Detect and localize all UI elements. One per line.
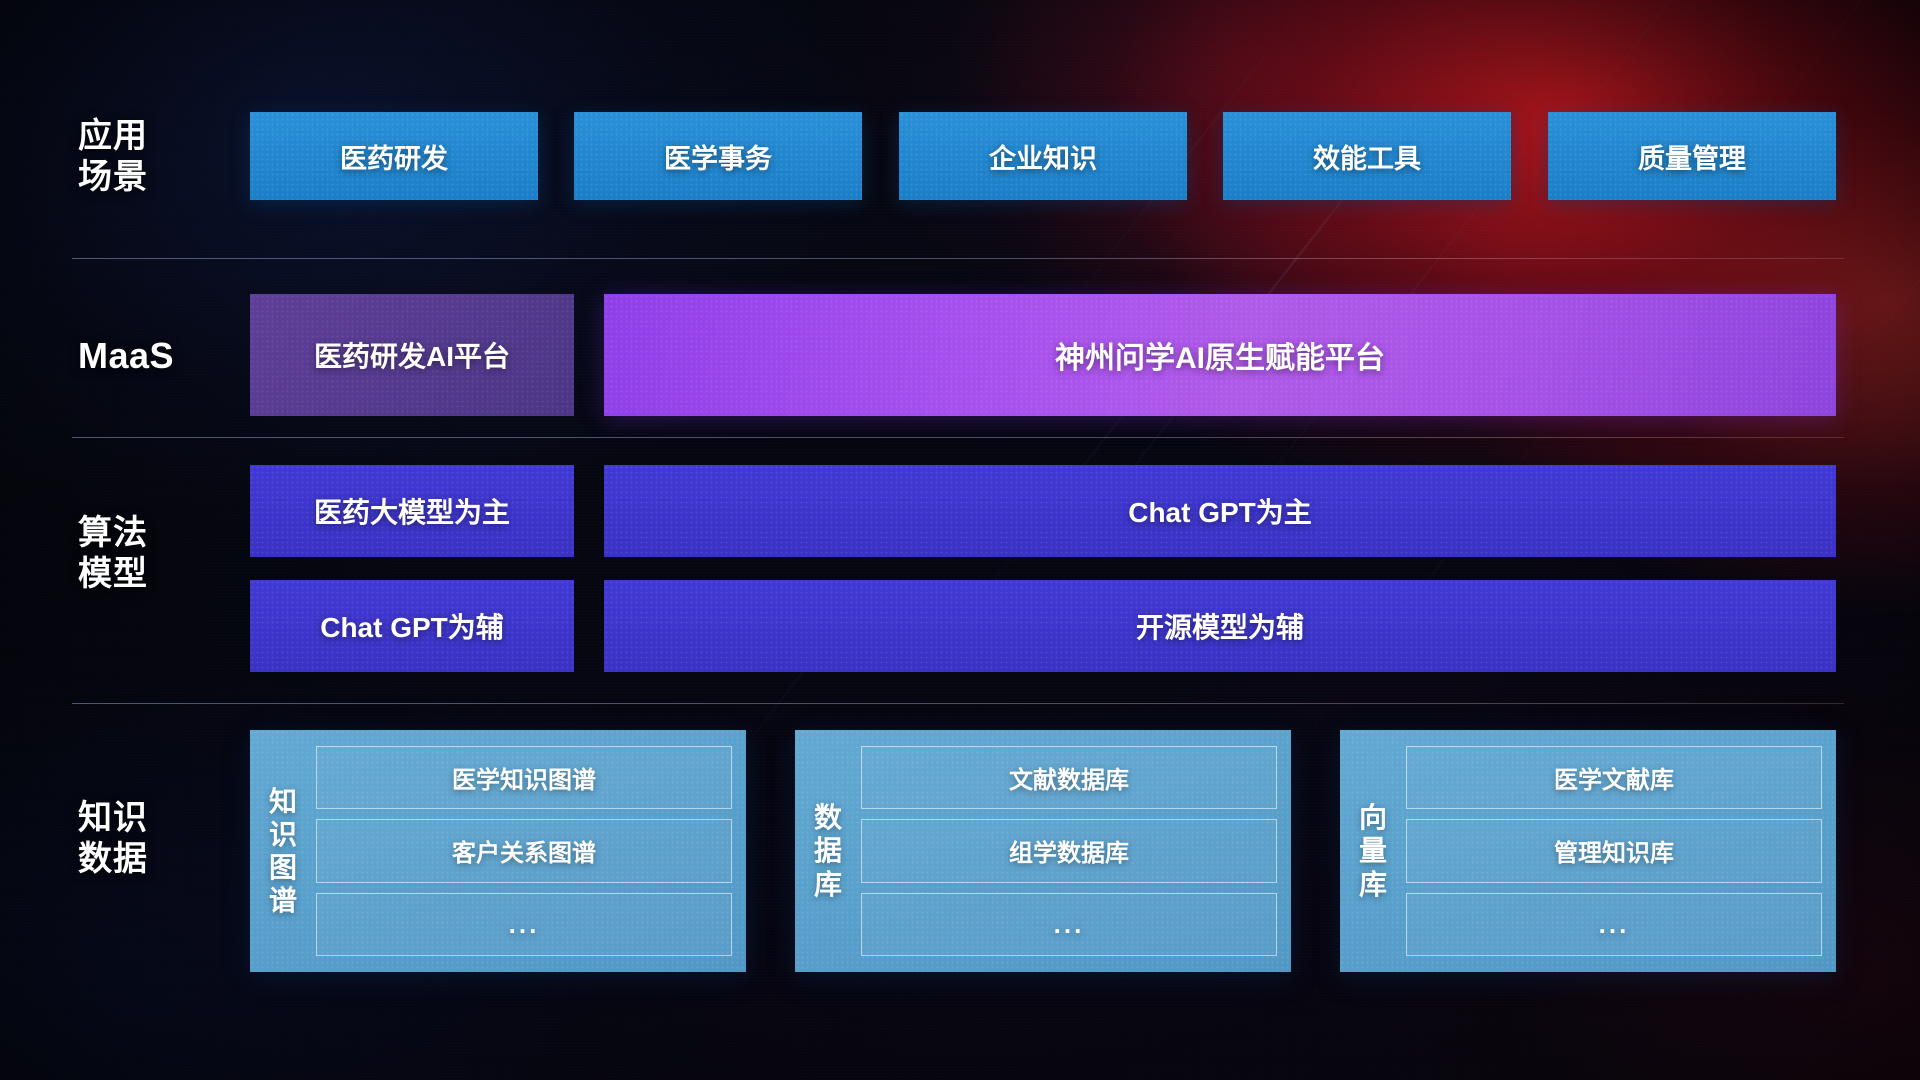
row-label-maas: MaaS: [78, 334, 218, 378]
knowledge-item-more-database[interactable]: ...: [861, 893, 1277, 956]
knowledge-panel-knowledge-graph[interactable]: 知 识 图 谱 医学知识图谱 客户关系图谱 ...: [250, 730, 746, 972]
row-label-line: 数据: [78, 839, 218, 880]
knowledge-item-customer-relation-graph[interactable]: 客户关系图谱: [316, 819, 732, 882]
title-char: 知: [269, 785, 297, 818]
row-label-knowledge-data: 知识 数据: [78, 798, 218, 881]
divider-application-maas: [72, 258, 1844, 259]
maas-card-shenzhou-wenxue-platform[interactable]: 神州问学AI原生赋能平台: [604, 294, 1836, 416]
algo-card-chatgpt-secondary[interactable]: Chat GPT为辅: [250, 580, 574, 672]
algo-card-opensource-model-secondary[interactable]: 开源模型为辅: [604, 580, 1836, 672]
knowledge-item-medical-literature-store[interactable]: 医学文献库: [1406, 746, 1822, 809]
maas-card-medicine-ai-platform[interactable]: 医药研发AI平台: [250, 294, 574, 416]
architecture-diagram: 应用 场景 医药研发 医学事务 企业知识 效能工具 质量管理 MaaS 医药研发…: [0, 0, 1920, 1080]
knowledge-item-more-vector-store[interactable]: ...: [1406, 893, 1822, 956]
title-char: 向: [1359, 801, 1387, 834]
algo-card-medicine-large-model-primary[interactable]: 医药大模型为主: [250, 465, 574, 557]
row-label-line: 知识: [78, 798, 218, 839]
title-char: 谱: [269, 884, 297, 917]
row-label-line: MaaS: [78, 334, 218, 378]
knowledge-item-omics-database[interactable]: 组学数据库: [861, 819, 1277, 882]
app-card-medical-affairs[interactable]: 医学事务: [574, 112, 862, 200]
title-char: 识: [269, 818, 297, 851]
knowledge-item-literature-database[interactable]: 文献数据库: [861, 746, 1277, 809]
title-char: 数: [814, 801, 842, 834]
knowledge-panel-title-knowledge-graph: 知 识 图 谱: [250, 746, 316, 956]
row-label-line: 算法: [78, 513, 218, 554]
knowledge-panel-vector-store[interactable]: 向 量 库 医学文献库 管理知识库 ...: [1340, 730, 1836, 972]
knowledge-panel-database[interactable]: 数 据 库 文献数据库 组学数据库 ...: [795, 730, 1291, 972]
knowledge-item-management-knowledge-store[interactable]: 管理知识库: [1406, 819, 1822, 882]
app-card-efficiency-tools[interactable]: 效能工具: [1223, 112, 1511, 200]
knowledge-panel-items-database: 文献数据库 组学数据库 ...: [861, 746, 1277, 956]
knowledge-panel-items-vector-store: 医学文献库 管理知识库 ...: [1406, 746, 1822, 956]
title-char: 图: [269, 851, 297, 884]
row-label-application-scenarios: 应用 场景: [78, 116, 218, 199]
row-label-line: 应用: [78, 116, 218, 157]
app-card-enterprise-knowledge[interactable]: 企业知识: [899, 112, 1187, 200]
app-card-medicine-rd[interactable]: 医药研发: [250, 112, 538, 200]
row-label-line: 场景: [78, 157, 218, 198]
knowledge-panel-title-database: 数 据 库: [795, 746, 861, 956]
title-char: 库: [1359, 868, 1387, 901]
title-char: 量: [1359, 834, 1387, 867]
title-char: 库: [814, 868, 842, 901]
knowledge-item-more-knowledge-graph[interactable]: ...: [316, 893, 732, 956]
algo-card-chatgpt-primary[interactable]: Chat GPT为主: [604, 465, 1836, 557]
title-char: 据: [814, 834, 842, 867]
knowledge-panel-title-vector-store: 向 量 库: [1340, 746, 1406, 956]
divider-algorithm-knowledge: [72, 703, 1844, 704]
knowledge-item-medical-knowledge-graph[interactable]: 医学知识图谱: [316, 746, 732, 809]
app-card-quality-management[interactable]: 质量管理: [1548, 112, 1836, 200]
row-label-algorithm-models: 算法 模型: [78, 513, 218, 596]
row-label-line: 模型: [78, 554, 218, 595]
knowledge-panel-items-knowledge-graph: 医学知识图谱 客户关系图谱 ...: [316, 746, 732, 956]
divider-maas-algorithm: [72, 437, 1844, 438]
